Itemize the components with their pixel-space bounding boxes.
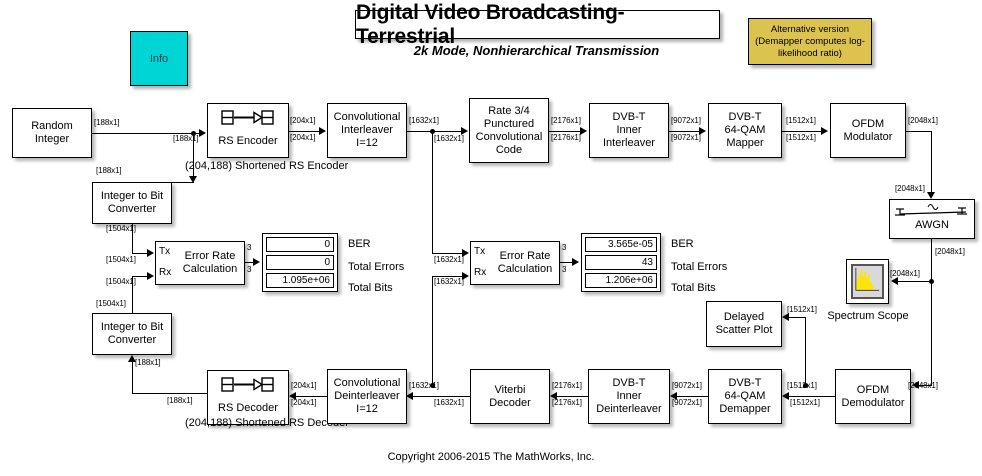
spectrum-scope-caption2: Scope: [877, 310, 908, 322]
error-rate-left-line2: Calculation: [183, 263, 237, 275]
display-right-label-errors: Total Errors: [671, 261, 727, 274]
block-dvbt-inner-deinterleaver[interactable]: DVB-T Inner Deinterleaver: [588, 369, 670, 424]
dim-label-s23: [1632x1]: [434, 255, 464, 264]
viterbi-decoder-line1: Viterbi: [489, 384, 531, 397]
rs-encoder-caption1: (204,188) Shortened: [185, 160, 286, 172]
wire-rsdec-out: [132, 393, 208, 394]
rs-decoder-label: RS Decoder: [218, 402, 278, 415]
display-right-bits-value: 1.206e+06: [585, 273, 657, 288]
block-awgn[interactable]: AWGN: [889, 199, 975, 239]
block-ofdm-modulator[interactable]: OFDM Modulator: [830, 103, 906, 158]
int2bit-tx-line1: Integer to Bit: [101, 190, 163, 203]
display-right-label-ber: BER: [671, 238, 694, 251]
arrowhead-scatter-in: [782, 313, 789, 321]
spectrum-scope-caption: Spectrum Scope: [826, 310, 910, 323]
conv-interleaver-line2: Interleaver: [334, 124, 401, 137]
error-rate-left-out-top: 3: [247, 243, 251, 252]
block-spectrum-scope[interactable]: [846, 259, 889, 304]
rs-encoder-caption: (204,188) Shortened RS Encoder: [185, 160, 311, 173]
copyright-notice: Copyright 2006-2015 The MathWorks, Inc.: [0, 451, 982, 463]
wire-to-scatter-plot: [789, 317, 806, 318]
inner-deinterleaver-line2: Inner: [596, 390, 661, 403]
display-right-label-bits: Total Bits: [671, 282, 716, 295]
display-left-label-errors: Total Errors: [348, 261, 404, 274]
block-ofdm-demodulator[interactable]: OFDM Demodulator: [835, 369, 911, 424]
arrowhead-demapper-in: [782, 392, 789, 400]
dim-label-s20: [1504x1]: [106, 255, 136, 264]
display-left-label-ber: BER: [348, 238, 371, 251]
display-left-ber-value: 0: [266, 237, 334, 252]
arrowhead-display-right-in: [572, 258, 579, 266]
block-integer-to-bit-converter-tx[interactable]: Integer to Bit Converter: [92, 182, 172, 224]
int2bit-rx-line1: Integer to Bit: [101, 321, 163, 334]
dim-label-s30: [9072x1]: [672, 398, 702, 407]
wire-innerdeint-to-viterbi: [557, 396, 588, 397]
wire-innerint-to-mapper: [669, 131, 701, 132]
dim-label-s33: [1512x1]: [787, 305, 817, 314]
alt-note-line2: (Demapper computes: [755, 36, 846, 47]
dim-label-s17: [2048x1]: [890, 269, 920, 278]
dim-label-s1: [188x1]: [94, 118, 120, 127]
arrowhead-convint-in: [319, 127, 326, 135]
rs-decoder-caption1: (204,188) Shortened: [185, 417, 286, 429]
qam-demapper-line1: DVB-T: [719, 377, 770, 390]
spectrum-scope-icon: [851, 264, 884, 299]
ofdm-modulator-line1: OFDM: [844, 118, 893, 131]
error-rate-right-out-top: 3: [562, 243, 566, 252]
wire-mapper-to-ofdmmod: [782, 131, 823, 132]
error-rate-left-body: Error Rate Calculation: [178, 242, 242, 284]
rs-decoder-icon: [221, 377, 275, 393]
wire-awgn-to-scope: [898, 281, 932, 282]
conv-deinterleaver-line2: Deinterleaver: [334, 390, 401, 403]
wire-viterbi-to-convdeint: [413, 396, 471, 397]
display-left-errors-value: 0: [266, 255, 334, 270]
random-integer-line2: Integer: [31, 133, 73, 146]
wire-convint-to-punct: [407, 131, 463, 132]
dim-label-s38: [188x1]: [135, 358, 161, 367]
info-block-label: Info: [150, 53, 168, 65]
display-left-label-bits: Total Bits: [348, 282, 393, 295]
error-rate-right-rx-port: Rx: [474, 267, 486, 278]
qam-demapper-line3: Demapper: [719, 403, 770, 416]
dim-label-s18: [2048x1]: [908, 381, 938, 390]
arrowhead-awgn-in: [927, 192, 935, 199]
punctured-conv-line4: Code: [476, 144, 543, 157]
dim-label-s28: [2176x1]: [552, 398, 582, 407]
error-rate-left-line1: Error Rate: [185, 250, 236, 262]
qam-mapper-line2: 64-QAM: [725, 124, 766, 137]
dim-label-s22: [1504x1]: [96, 299, 126, 308]
error-rate-left-tx-port: Tx: [159, 246, 170, 257]
alt-note-line1: Alternative version: [771, 24, 849, 35]
dim-label-s3: [188x1]: [96, 166, 122, 175]
block-error-rate-calculation-right[interactable]: Tx Rx Error Rate Calculation: [470, 241, 560, 285]
block-integer-to-bit-converter-rx[interactable]: Integer to Bit Converter: [92, 313, 172, 355]
block-dvbt-64qam-mapper[interactable]: DVB-T 64-QAM Mapper: [708, 103, 782, 158]
block-viterbi-decoder[interactable]: Viterbi Decoder: [470, 369, 550, 424]
ofdm-demodulator-line2: Demodulator: [842, 397, 905, 410]
dim-label-s7: [1632x1]: [434, 134, 464, 143]
error-rate-right-line2: Calculation: [498, 263, 552, 275]
dim-label-s25: [1632x1]: [409, 381, 439, 390]
wire-demapper-to-innerdeint: [677, 396, 708, 397]
display-left[interactable]: 0 0 1.095e+06: [262, 233, 338, 292]
dim-label-s8: [2176x1]: [551, 116, 581, 125]
block-random-integer[interactable]: Random Integer: [12, 108, 92, 158]
qam-mapper-line1: DVB-T: [725, 111, 766, 124]
ofdm-demodulator-line1: OFDM: [842, 384, 905, 397]
dim-label-s11: [9072x1]: [671, 133, 701, 142]
block-dvbt-64qam-demapper[interactable]: DVB-T 64-QAM Demapper: [708, 369, 782, 424]
error-rate-left-out-bot: 3: [247, 265, 251, 274]
punctured-conv-line3: Convolutional: [476, 131, 543, 144]
wire-scatter-up: [805, 317, 806, 385]
block-punctured-convolutional-code[interactable]: Rate 3/4 Punctured Convolutional Code: [469, 98, 549, 163]
wire-into-int2bit-tx: [172, 182, 194, 183]
dim-label-s39: [188x1]: [167, 396, 193, 405]
inner-interleaver-line3: Interleaver: [603, 137, 655, 150]
arrowhead-err-left-tx: [147, 249, 154, 257]
arrowhead-display-left-in: [253, 258, 260, 266]
error-rate-right-body: Error Rate Calculation: [493, 242, 557, 284]
display-left-bits-value: 1.095e+06: [266, 273, 334, 288]
int2bit-tx-line2: Converter: [101, 203, 163, 216]
arrowhead-innerint-in: [580, 127, 587, 135]
error-rate-left-rx-port: Rx: [159, 267, 171, 278]
arrowhead-err-left-rx: [147, 272, 154, 280]
wire-ofdmdemod-to-demapper: [789, 396, 835, 397]
arrowhead-convdeint-in: [406, 392, 413, 400]
dim-label-s37: [204x1]: [291, 398, 317, 407]
dim-label-s36: [204x1]: [291, 381, 317, 390]
block-dvbt-inner-interleaver[interactable]: DVB-T Inner Interleaver: [589, 103, 669, 158]
dim-label-s5: [204x1]: [290, 133, 316, 142]
wire-convint-to-err-tx: [432, 253, 464, 254]
display-right-ber-value: 3.565e-05: [585, 237, 657, 252]
inner-interleaver-line1: DVB-T: [603, 111, 655, 124]
rs-decoder-caption: (204,188) Shortened RS Decoder: [185, 417, 311, 430]
rs-encoder-icon: [221, 110, 275, 126]
wire-rsenc-to-convint: [289, 131, 321, 132]
wire-int2bit-tx-to-err: [132, 253, 148, 254]
dim-label-s31: [1512x1]: [787, 381, 817, 390]
wire-ofdmmod-out: [906, 131, 932, 132]
wire-viterbi-up: [432, 276, 433, 385]
dim-label-s29: [9072x1]: [672, 381, 702, 390]
dim-label-s2: [188x1]: [173, 134, 199, 143]
punctured-conv-line1: Rate 3/4: [476, 105, 543, 118]
dim-label-s15: [2048x1]: [895, 184, 925, 193]
conv-deinterleaver-line1: Convolutional: [334, 377, 401, 390]
dim-label-s24: [1632x1]: [434, 277, 464, 286]
arrowhead-ofdmmod-in: [821, 127, 828, 135]
wire-convint-down: [432, 131, 433, 253]
dim-label-s26: [1632x1]: [434, 398, 464, 407]
delayed-scatter-plot-line2: Scatter Plot: [716, 324, 773, 337]
block-convolutional-deinterleaver[interactable]: Convolutional Deinterleaver I=12: [327, 369, 407, 424]
conv-interleaver-line3: I=12: [334, 137, 401, 150]
dim-label-s32: [1512x1]: [790, 398, 820, 407]
delayed-scatter-plot-line1: Delayed: [716, 311, 773, 324]
spectrum-scope-caption1: Spectrum: [827, 310, 874, 322]
rs-encoder-label: RS Encoder: [218, 135, 277, 148]
punctured-conv-line2: Punctured: [476, 118, 543, 131]
dim-label-s9: [2176x1]: [551, 133, 581, 142]
ofdm-modulator-line2: Modulator: [844, 131, 893, 144]
viterbi-decoder-line2: Decoder: [489, 397, 531, 410]
dim-label-s10: [9072x1]: [671, 116, 701, 125]
block-rs-encoder[interactable]: RS Encoder: [207, 103, 289, 158]
page-subtitle: 2k Mode, Nonhierarchical Transmission: [355, 43, 718, 58]
wire-punct-to-innerint: [549, 131, 581, 132]
wire-rsdec-up: [132, 362, 133, 394]
dim-label-s21: [1504x1]: [106, 277, 136, 286]
page-title: Digital Video Broadcasting-Terrestrial: [355, 10, 720, 39]
arrowhead-scope-in: [891, 277, 898, 285]
dim-label-s13: [1512x1]: [786, 133, 816, 142]
qam-demapper-line2: 64-QAM: [719, 390, 770, 403]
conv-deinterleaver-line3: I=12: [334, 403, 401, 416]
info-block[interactable]: Info: [130, 31, 188, 86]
random-integer-line1: Random: [31, 120, 73, 133]
conv-interleaver-line1: Convolutional: [334, 111, 401, 124]
dim-label-s27: [2176x1]: [552, 381, 582, 390]
wire-convdeint-to-rsdec: [296, 396, 327, 397]
dim-label-s19: [1504x1]: [106, 224, 136, 233]
alternative-version-note[interactable]: Alternative version (Demapper computes l…: [748, 18, 872, 65]
simulink-model-canvas: Digital Video Broadcasting-Terrestrial 2…: [0, 0, 982, 476]
error-rate-right-line1: Error Rate: [500, 250, 551, 262]
wire-ofdmmod-down: [931, 131, 932, 193]
display-right-errors-value: 43: [585, 255, 657, 270]
int2bit-rx-line2: Converter: [101, 334, 163, 347]
dim-label-s16: [2048x1]: [935, 247, 965, 256]
block-delayed-scatter-plot[interactable]: Delayed Scatter Plot: [706, 301, 782, 347]
inner-interleaver-line2: Inner: [603, 124, 655, 137]
dim-label-s14: [2048x1]: [908, 116, 938, 125]
arrowhead-rsenc-in: [199, 129, 206, 137]
inner-deinterleaver-line1: DVB-T: [596, 377, 661, 390]
dim-label-s4: [204x1]: [290, 116, 316, 125]
rs-encoder-caption2: RS Encoder: [289, 160, 348, 172]
error-rate-right-out-bot: 3: [562, 265, 566, 274]
dim-label-s12: [1512x1]: [786, 116, 816, 125]
wire-awgn-down: [931, 239, 932, 385]
display-right[interactable]: 3.565e-05 43 1.206e+06: [581, 233, 661, 292]
block-error-rate-calculation-left[interactable]: Tx Rx Error Rate Calculation: [155, 241, 245, 285]
qam-mapper-line3: Mapper: [725, 137, 766, 150]
block-convolutional-interleaver[interactable]: Convolutional Interleaver I=12: [327, 103, 407, 158]
awgn-label: AWGN: [915, 219, 949, 232]
dim-label-s6: [1632x1]: [409, 116, 439, 125]
inner-deinterleaver-line3: Deinterleaver: [596, 403, 661, 416]
error-rate-right-tx-port: Tx: [474, 246, 485, 257]
